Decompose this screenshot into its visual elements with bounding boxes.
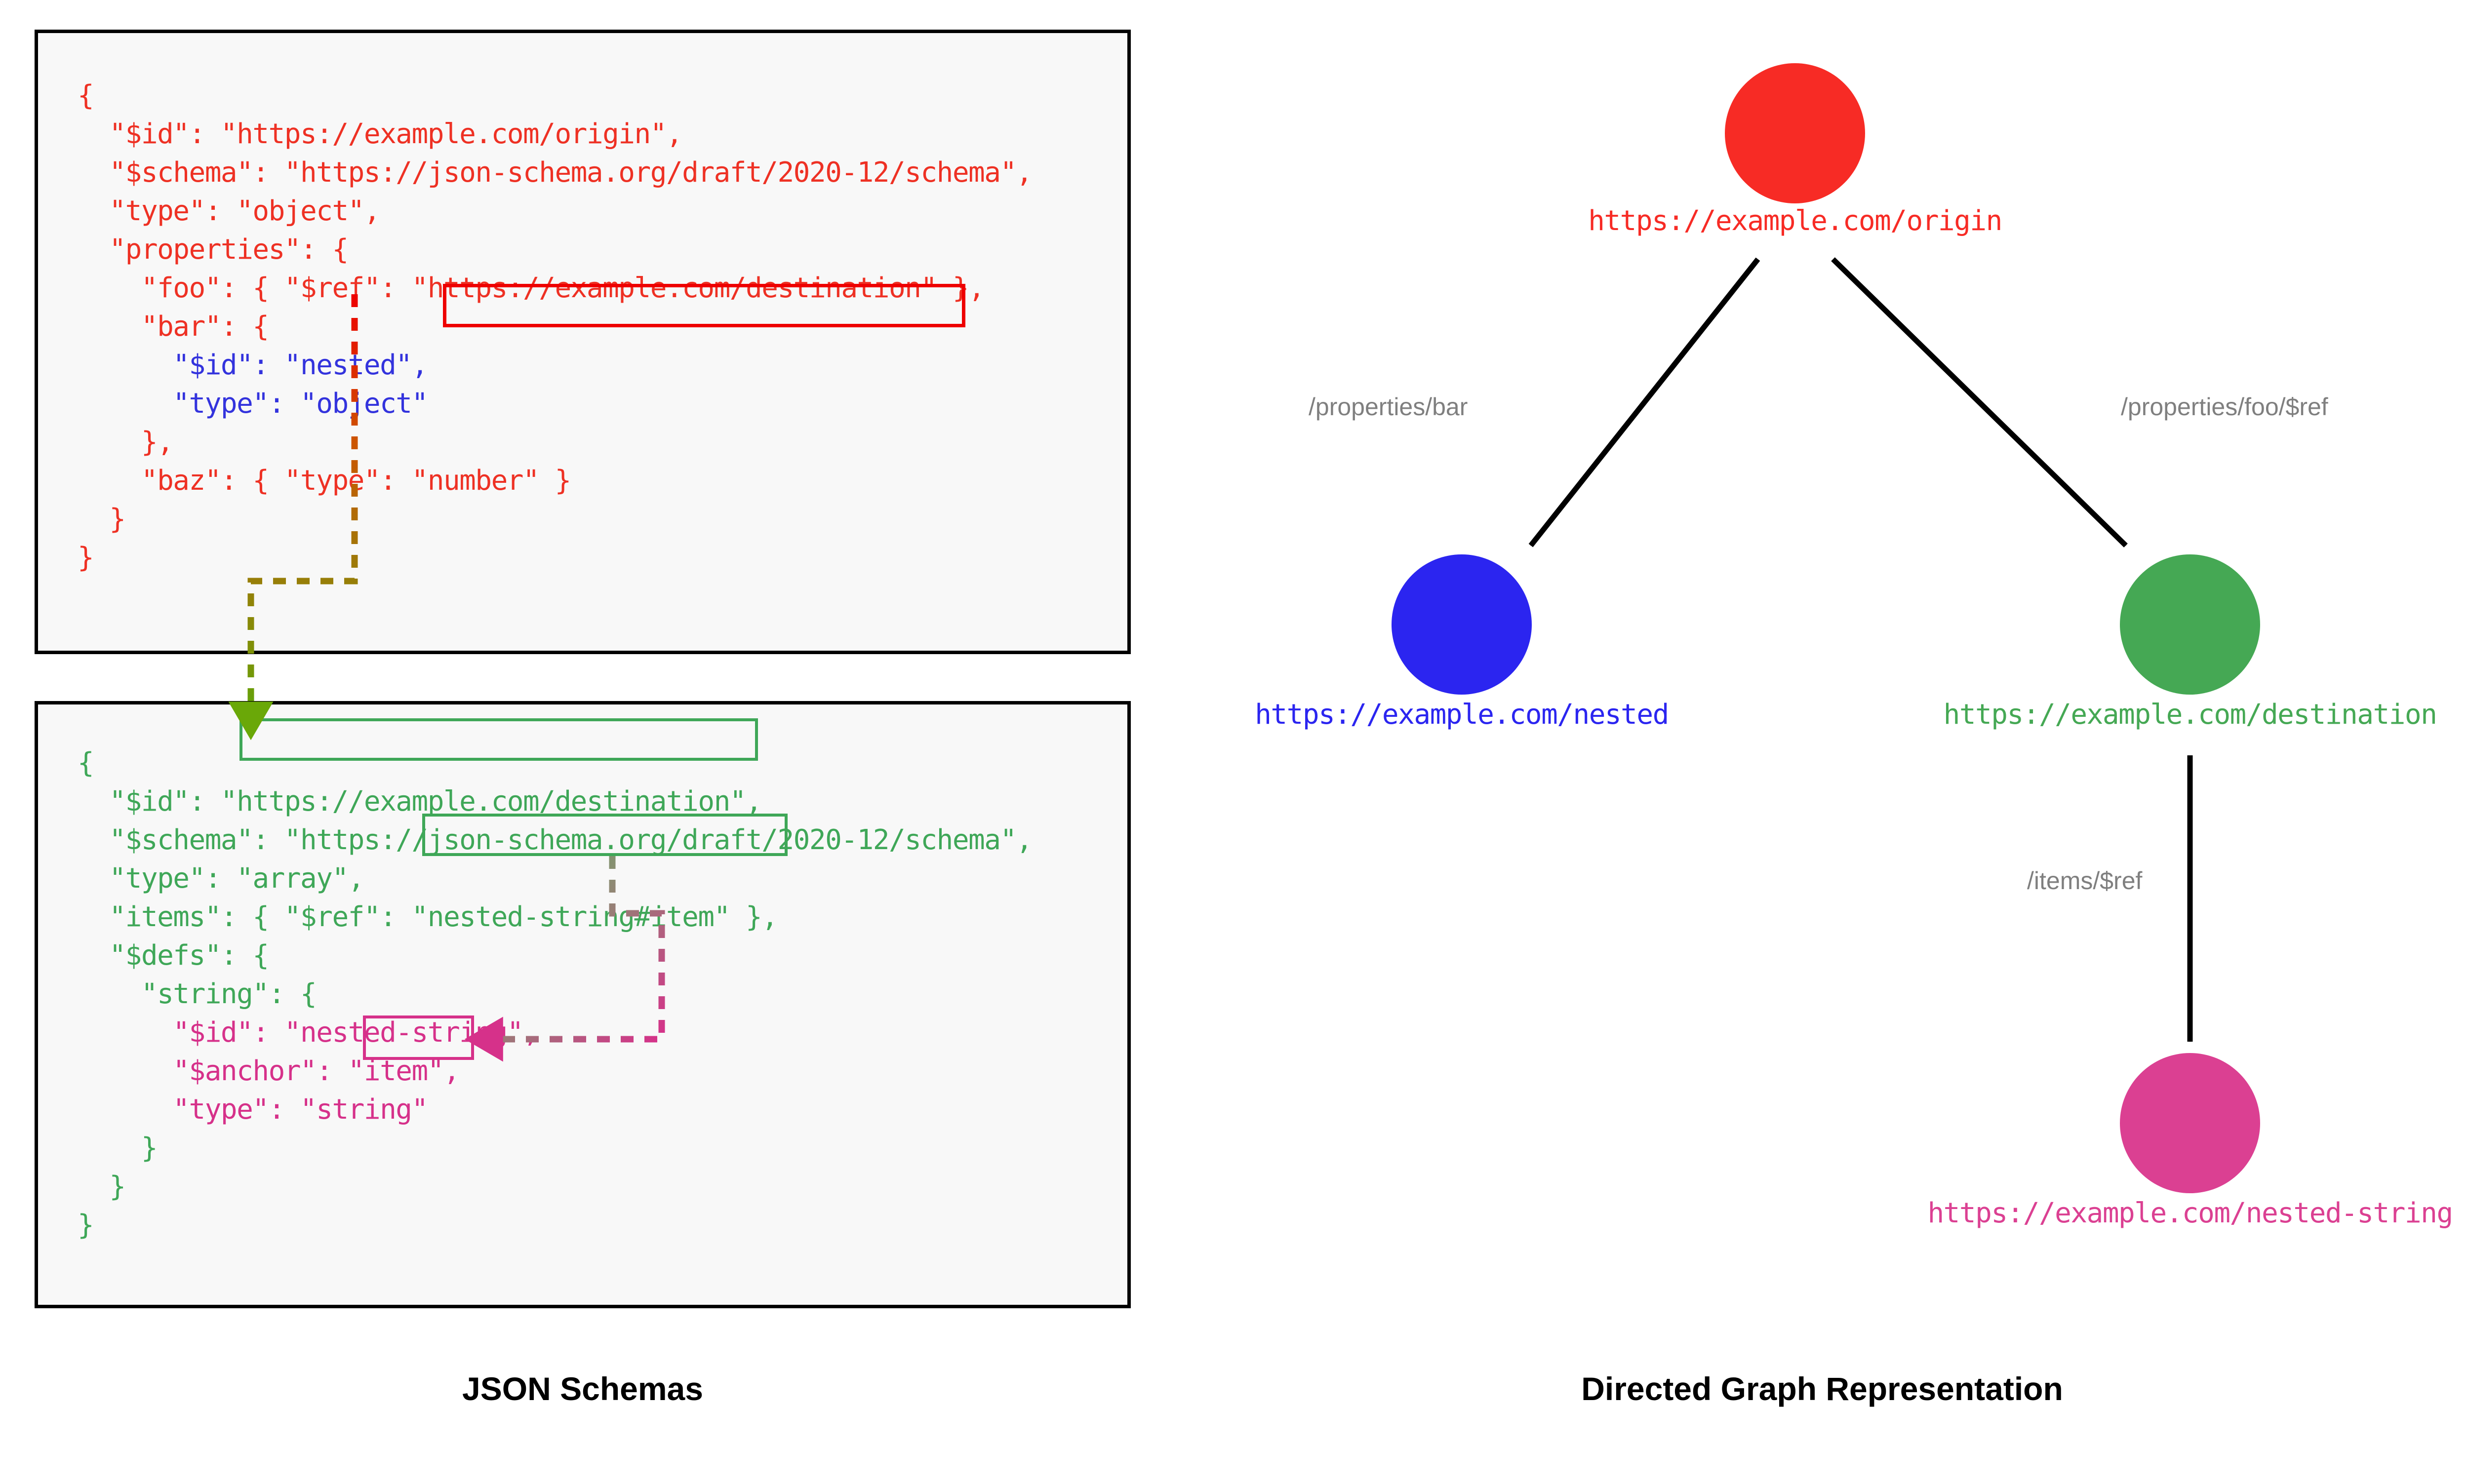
graph-edge-label-properties-foo-ref: /properties/foo/$ref [2121, 392, 2328, 421]
diagram-root: { "$id": "https://example.com/origin", "… [0, 0, 2469, 1484]
code-line: }, [78, 426, 173, 458]
code-line: } [78, 1209, 93, 1241]
code-line: "$id": "https://example.com/destination"… [78, 785, 761, 818]
code-line: "$defs": { [78, 939, 269, 972]
caption-json-schemas: JSON Schemas [462, 1370, 703, 1407]
graph-canvas [1210, 0, 2469, 1363]
code-line: "string": { [78, 978, 316, 1010]
code-line: } [78, 1171, 125, 1203]
graph-node-nested[interactable] [1392, 554, 1532, 695]
code-line: "$schema": "https://json-schema.org/draf… [78, 824, 1032, 856]
code-line: "type": "string" [78, 1093, 428, 1126]
graph-node-label-origin: https://example.com/origin [1588, 205, 2002, 237]
graph-node-origin[interactable] [1725, 63, 1865, 203]
code-line: "type": "array", [78, 862, 364, 895]
code-destination: { "$id": "https://example.com/destinatio… [78, 744, 1032, 1245]
code-line: { [78, 747, 93, 779]
code-line: "foo": { "$ref": "https://example.com/de… [78, 272, 984, 304]
schema-box-origin: { "$id": "https://example.com/origin", "… [35, 30, 1131, 654]
code-line: "bar": { [78, 311, 269, 343]
edge-origin-to-destination [1833, 259, 2126, 546]
schema-box-destination: { "$id": "https://example.com/destinatio… [35, 701, 1131, 1308]
code-origin: { "$id": "https://example.com/origin", "… [78, 77, 1032, 577]
code-line: } [78, 542, 93, 574]
code-line: } [78, 503, 125, 535]
code-line: "items": { "$ref": "nested-string#item" … [78, 901, 777, 933]
graph-edge-label-items-ref: /items/$ref [2027, 866, 2142, 895]
code-line: "type": "object", [78, 195, 380, 227]
code-line: "$schema": "https://json-schema.org/draf… [78, 156, 1032, 189]
code-line: "$id": "https://example.com/origin", [78, 118, 682, 150]
caption-directed-graph: Directed Graph Representation [1581, 1370, 2063, 1407]
code-line: "properties": { [78, 234, 348, 266]
code-line: } [78, 1132, 157, 1164]
code-line: { [78, 79, 93, 112]
code-line: "$anchor": "item", [78, 1055, 459, 1087]
code-line: "baz": { "type": "number" } [78, 465, 571, 497]
code-line: "$id": "nested", [78, 349, 428, 381]
graph-node-label-nested-string: https://example.com/nested-string [1927, 1197, 2452, 1229]
edge-origin-to-nested [1531, 259, 1758, 546]
graph-node-label-destination: https://example.com/destination [1944, 699, 2437, 731]
directed-graph: https://example.com/origin https://examp… [1210, 0, 2469, 1363]
code-line: "$id": "nested-string", [78, 1016, 539, 1049]
graph-node-label-nested: https://example.com/nested [1255, 699, 1669, 731]
code-line: "type": "object" [78, 388, 428, 420]
graph-edge-label-properties-bar: /properties/bar [1309, 392, 1468, 421]
graph-node-nested-string[interactable] [2120, 1053, 2260, 1193]
graph-node-destination[interactable] [2120, 554, 2260, 695]
